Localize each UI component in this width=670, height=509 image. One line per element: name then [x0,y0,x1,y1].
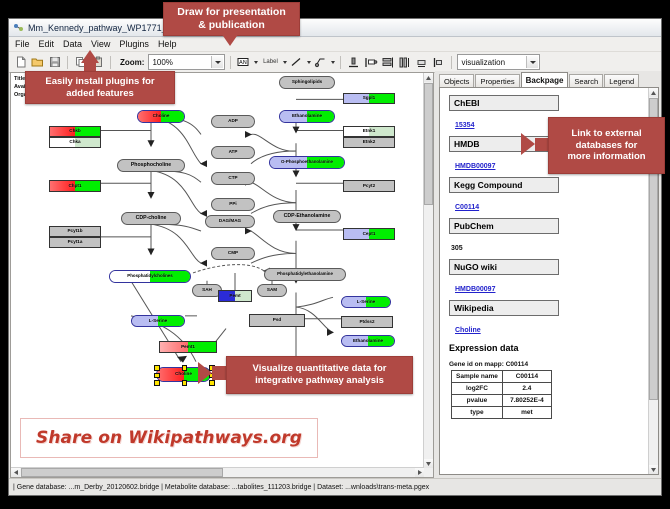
node-label: CTP [228,176,237,181]
tab-search[interactable]: Search [569,74,603,87]
visualization-combo[interactable]: visualization [457,54,540,70]
metabolite-node-ethanolamine[interactable]: Ethanolamine [341,335,395,347]
node-label: Psd [273,318,281,323]
scroll-down-arrow[interactable] [424,459,433,468]
database-value-chebi[interactable]: 15354 [455,122,474,129]
scroll-right-arrow[interactable] [415,468,424,477]
node-label: Pcyt2 [363,184,375,189]
side-panel-tabs[interactable]: ObjectsPropertiesBackpageSearchLegend [439,73,659,87]
node-label: Ethanolamine [353,339,383,344]
gene-node-pcyt1a[interactable]: Pcyt1a [49,237,101,248]
callout-plugins-line2: added features [66,88,134,100]
callout-link-line1: Link to external [571,128,641,140]
gene-node-cept1[interactable]: Cept1 [343,228,395,240]
metabolite-node-l-serine[interactable]: L-Serine [341,296,391,308]
label-dropdown-icon[interactable] [283,61,287,64]
menu-view[interactable]: View [91,39,110,49]
table-cell-key: Sample name [452,371,503,383]
zoom-label: Zoom: [120,58,144,67]
backpage-scroll-up-arrow[interactable] [649,88,658,97]
tab-label: Search [574,77,598,86]
node-label: Choline [153,114,170,119]
database-heading-text: Wikipedia [454,303,494,313]
database-heading-chebi: ChEBI [449,95,559,111]
gene-node-ptdss2[interactable]: Ptdss2 [341,316,393,328]
menu-bar[interactable]: File Edit Data View Plugins Help [9,37,661,52]
database-heading-text: HMDB [454,139,480,149]
database-heading-nugo-wiki: NuGO wiki [449,259,559,275]
share-banner: Share on Wikipathways.org [20,418,318,458]
callout-visualize: Visualize quantitative data for integrat… [226,356,413,394]
database-heading-text: PubChem [454,221,494,231]
callout-draw-line2: & publication [198,19,265,32]
save-icon[interactable] [47,55,62,70]
callout-plugins-arrow [81,50,99,63]
node-label: SAH [202,288,212,293]
callout-draw-arrow [221,33,239,46]
node-label: Sphingolipids [292,80,322,85]
database-value-wikipedia[interactable]: Choline [455,327,481,334]
tab-objects[interactable]: Objects [439,74,474,87]
node-label: Chkb [69,129,80,134]
node-label: L-Serine [149,319,167,324]
horizontal-scroll-thumb[interactable] [21,468,223,477]
tab-legend[interactable]: Legend [604,74,639,87]
database-value-hmdb[interactable]: HMDB00097 [455,163,495,170]
selection-handle-6[interactable] [182,380,188,386]
node-label: Phosphatidylcholines [127,274,172,278]
pathvisio-icon [13,22,24,33]
tab-properties[interactable]: Properties [475,74,519,87]
screenshot-root: Mm_Kennedy_pathway_WP1771_45176.gpml Fil… [0,0,670,509]
menu-file[interactable]: File [15,39,30,49]
toolbar: Zoom: 100% AN Label [9,52,661,73]
metabolite-node-ctp[interactable]: CTP [211,172,255,185]
align-right-icon[interactable] [431,55,446,70]
label-button[interactable]: Label [260,55,280,70]
callout-link-arrow [521,133,535,155]
gene-node-sgpl1[interactable]: Sgpl1 [343,93,395,104]
table-cell-key: pvalue [452,395,503,407]
canvas-vertical-scrollbar[interactable] [423,73,433,468]
gene-node-pcyt2[interactable]: Pcyt2 [343,180,395,192]
metabolite-node-ethanolamine[interactable]: Ethanolamine [279,110,335,123]
line-icon[interactable] [289,55,304,70]
align-left-icon[interactable] [363,55,378,70]
selection-handle-5[interactable] [154,380,160,386]
tab-label: Objects [444,77,469,86]
tab-label: Legend [609,77,634,86]
callout-link-line2: databases for [576,140,638,152]
callout-draw: Draw for presentation & publication [163,2,300,36]
callout-plugins: Easily install plugins for added feature… [25,71,175,104]
zoom-combo[interactable]: 100% [148,54,225,70]
gene-node-etnk1[interactable]: Etnk1 [343,126,395,137]
backpage-scroll-down-arrow[interactable] [649,465,658,474]
selection-handle-0[interactable] [154,365,160,371]
metabolite-node-phosphocholine[interactable]: Phosphocholine [117,159,185,172]
status-text: | Gene database: ...m_Derby_20120602.bri… [13,484,429,491]
metabolite-node-dag-mag[interactable]: DAG/MAG [205,215,255,228]
align-center-icon[interactable] [414,55,429,70]
window-titlebar: Mm_Kennedy_pathway_WP1771_45176.gpml [9,19,661,37]
node-label: Ptdss2 [359,320,374,325]
align-bottom-icon[interactable] [346,55,361,70]
canvas-horizontal-scrollbar[interactable] [11,467,424,477]
node-label: Sgpl1 [363,96,376,101]
pathway-canvas[interactable]: Title: Availa Organ [11,73,424,468]
new-file-icon[interactable] [13,55,28,70]
menu-data[interactable]: Data [63,39,82,49]
callout-visualize-arrow [198,362,212,384]
node-label: Pemt1 [181,345,195,350]
gene-node-chpt1[interactable]: Chpt1 [49,180,101,192]
table-row: Sample nameC00114 [452,371,552,383]
metabolite-node-phosphatidylethanolamine[interactable]: Phosphatidylethanolamine [264,268,346,281]
tab-backpage[interactable]: Backpage [521,72,569,87]
table-cell-key: log2FC [452,383,503,395]
gene-id-label: Gene id on mapp: C00114 [449,361,649,368]
datanode-icon[interactable]: AN [236,55,251,70]
node-label: CDP-Ethanolamine [284,214,331,219]
node-label: CDP-choline [136,216,167,221]
selection-handle-3[interactable] [154,373,160,379]
metabolite-node-cdp-ethanolamine[interactable]: CDP-Ethanolamine [273,210,341,223]
metabolite-node-sphingolipids[interactable]: Sphingolipids [279,76,335,89]
toolbar-separator-3 [230,56,231,69]
table-cell-value: C00114 [502,371,551,383]
node-label: Etnk1 [363,129,376,134]
stack-vertical-icon[interactable] [380,55,395,70]
gene-node-etnk2[interactable]: Etnk2 [343,137,395,148]
metabolite-node-phosphatidylcholines[interactable]: Phosphatidylcholines [109,270,191,283]
visualization-combo-arrow[interactable] [526,56,538,68]
zoom-value: 100% [152,58,172,67]
node-label: ATP [229,150,238,155]
toolbar-separator-2 [110,56,111,69]
toolbar-separator-4 [340,56,341,69]
visualization-value: visualization [461,58,505,67]
node-label: Ethanolamine [292,114,322,119]
vertical-scroll-thumb[interactable] [424,83,433,205]
node-label: DAG/MAG [219,219,241,224]
menu-help[interactable]: Help [158,39,177,49]
database-heading-text: ChEBI [454,98,480,108]
metabolite-node-cdp-choline[interactable]: CDP-choline [121,212,181,225]
node-label: Etnk2 [363,140,376,145]
open-folder-icon[interactable] [30,55,45,70]
menu-plugins[interactable]: Plugins [119,39,149,49]
database-heading-kegg-compound: Kegg Compound [449,177,559,193]
interaction-icon[interactable] [313,55,328,70]
callout-visualize-line1: Visualize quantitative data for [253,363,387,375]
scrollbar-corner [424,468,433,477]
scroll-left-arrow[interactable] [11,468,20,477]
table-cell-key: type [452,407,503,419]
interaction-dropdown-icon[interactable] [331,61,335,64]
datanode-dropdown-icon[interactable] [254,61,258,64]
callout-visualize-line2: integrative pathway analysis [255,375,384,387]
metabolite-node-choline[interactable]: Choline [137,110,185,123]
menu-edit[interactable]: Edit [39,39,55,49]
node-label: Chpt1 [68,184,81,189]
node-label: PPi [229,202,236,207]
toolbar-separator-5 [451,56,452,69]
node-label: SAM [267,288,277,293]
expression-table: Sample nameC00114log2FC2.4pvalue7.80252E… [451,370,552,419]
line-dropdown-icon[interactable] [307,61,311,64]
table-row: log2FC2.4 [452,383,552,395]
selection-handle-1[interactable] [182,365,188,371]
metabolite-node-l-serine[interactable]: L-Serine [131,315,185,327]
metabolite-node-cmp[interactable]: CMP [211,247,255,260]
node-label: Pcyt1a [68,240,83,245]
node-label: Phosphatidylethanolamine [277,272,333,276]
metabolite-node-o-phosphoethanolamine[interactable]: O-Phosphoethanolamine [269,156,345,169]
database-heading-text: Kegg Compound [454,180,522,190]
node-label: Phosphocholine [131,163,171,168]
node-label: ADP [228,119,238,124]
metabolite-node-sam[interactable]: SAM [257,284,287,297]
callout-link: Link to external databases for more info… [548,117,665,174]
toolbar-separator [67,56,68,69]
metabolite-node-ppi[interactable]: PPi [211,198,255,211]
table-cell-value: met [502,407,551,419]
metabolite-node-atp[interactable]: ATP [211,146,255,159]
gene-node-pemt1[interactable]: Pemt1 [159,341,217,353]
table-cell-value: 2.4 [502,383,551,395]
zoom-combo-arrow[interactable] [211,56,223,68]
database-heading-pubchem: PubChem [449,218,559,234]
scroll-up-arrow[interactable] [424,73,433,82]
gene-node-pcyt1b[interactable]: Pcyt1b [49,226,101,237]
callout-draw-line1: Draw for presentation [177,6,286,19]
status-bar: | Gene database: ...m_Derby_20120602.bri… [9,478,661,495]
gene-node-chkb[interactable]: Chkb [49,126,101,137]
callout-link-line3: more information [567,151,645,163]
svg-text:AN: AN [239,60,247,66]
database-heading-wikipedia: Wikipedia [449,300,559,316]
node-label: Pcyt1b [67,229,82,234]
table-row: pvalue7.80252E-4 [452,395,552,407]
metabolite-node-adp[interactable]: ADP [211,115,255,128]
gene-node-psd[interactable]: Psd [249,314,305,327]
gene-node-pemt[interactable]: Pemt [218,290,252,302]
node-label: O-Phosphoethanolamine [281,160,333,164]
table-row: typemet [452,407,552,419]
node-label: CMP [228,251,238,256]
database-heading-text: NuGO wiki [454,262,497,272]
node-label: L-Serine [357,300,375,305]
table-cell-value: 7.80252E-4 [502,395,551,407]
tab-label: Backpage [526,76,564,85]
node-label: Pemt [229,294,240,299]
database-value-kegg-compound[interactable]: C00114 [455,204,479,211]
distribute-icon[interactable] [397,55,412,70]
tab-label: Properties [480,77,514,86]
gene-node-chka[interactable]: Chka [49,137,101,148]
callout-plugins-line1: Easily install plugins for [45,76,154,88]
share-banner-text: Share on Wikipathways.org [36,428,302,448]
expression-data-heading: Expression data [449,343,649,353]
node-label: Chka [69,140,80,145]
database-value-nugo-wiki[interactable]: HMDB00097 [455,286,495,293]
node-label: Cept1 [363,232,376,237]
database-value-pubchem: 305 [451,245,463,252]
node-label: Choline [175,372,192,377]
